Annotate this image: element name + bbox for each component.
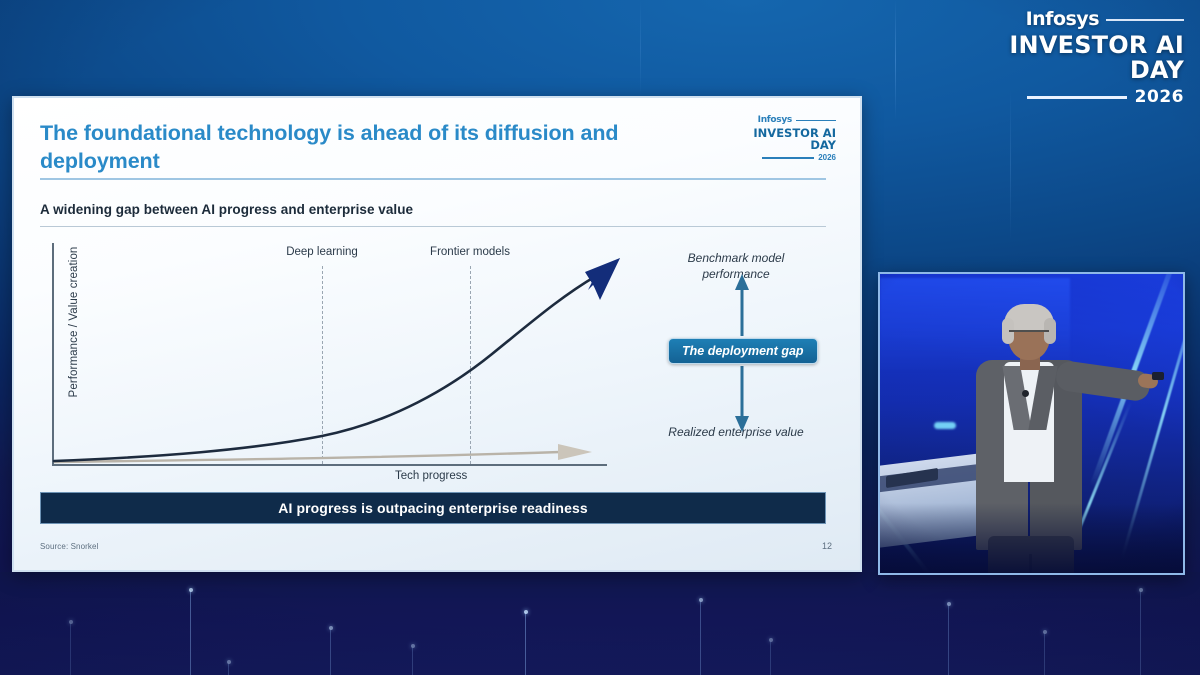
event-logo-year: 2026 xyxy=(1135,87,1184,107)
event-logo-title: INVESTOR AI DAY xyxy=(1004,33,1184,83)
event-logo: Infosys INVESTOR AI DAY 2026 xyxy=(1004,10,1184,107)
event-logo-brand: Infosys xyxy=(1026,10,1099,29)
source-note: Source: Snorkel xyxy=(40,542,98,551)
slide-logo-rule xyxy=(796,120,836,121)
title-underline xyxy=(40,178,826,180)
slide-logo: Infosys INVESTOR AI DAY 2026 xyxy=(740,116,836,162)
slide-logo-title: INVESTOR AI DAY xyxy=(740,127,836,151)
subheading-underline xyxy=(40,226,826,227)
video-vignette xyxy=(880,274,1183,573)
slide-page-number: 12 xyxy=(822,541,832,551)
chart-area: Performance / Value creation Tech progre… xyxy=(40,238,840,478)
realized-value-callout-label: Realized enterprise value xyxy=(636,424,836,440)
gap-arrow-up-head xyxy=(735,274,749,290)
deployment-gap-badge: The deployment gap xyxy=(668,338,818,364)
slide-logo-rule-2 xyxy=(762,157,814,159)
event-logo-rule xyxy=(1106,19,1184,21)
slide-logo-year: 2026 xyxy=(818,153,836,162)
broadcast-frame: Infosys INVESTOR AI DAY 2026 The foundat… xyxy=(0,0,1200,675)
speaker-video-panel[interactable] xyxy=(878,272,1185,575)
event-logo-rule-2 xyxy=(1027,96,1127,99)
presentation-slide: The foundational technology is ahead of … xyxy=(12,96,862,572)
slide-subheading: A widening gap between AI progress and e… xyxy=(40,202,413,217)
slide-title: The foundational technology is ahead of … xyxy=(40,120,730,175)
slide-logo-brand: Infosys xyxy=(758,116,792,125)
key-message-banner: AI progress is outpacing enterprise read… xyxy=(40,492,826,524)
